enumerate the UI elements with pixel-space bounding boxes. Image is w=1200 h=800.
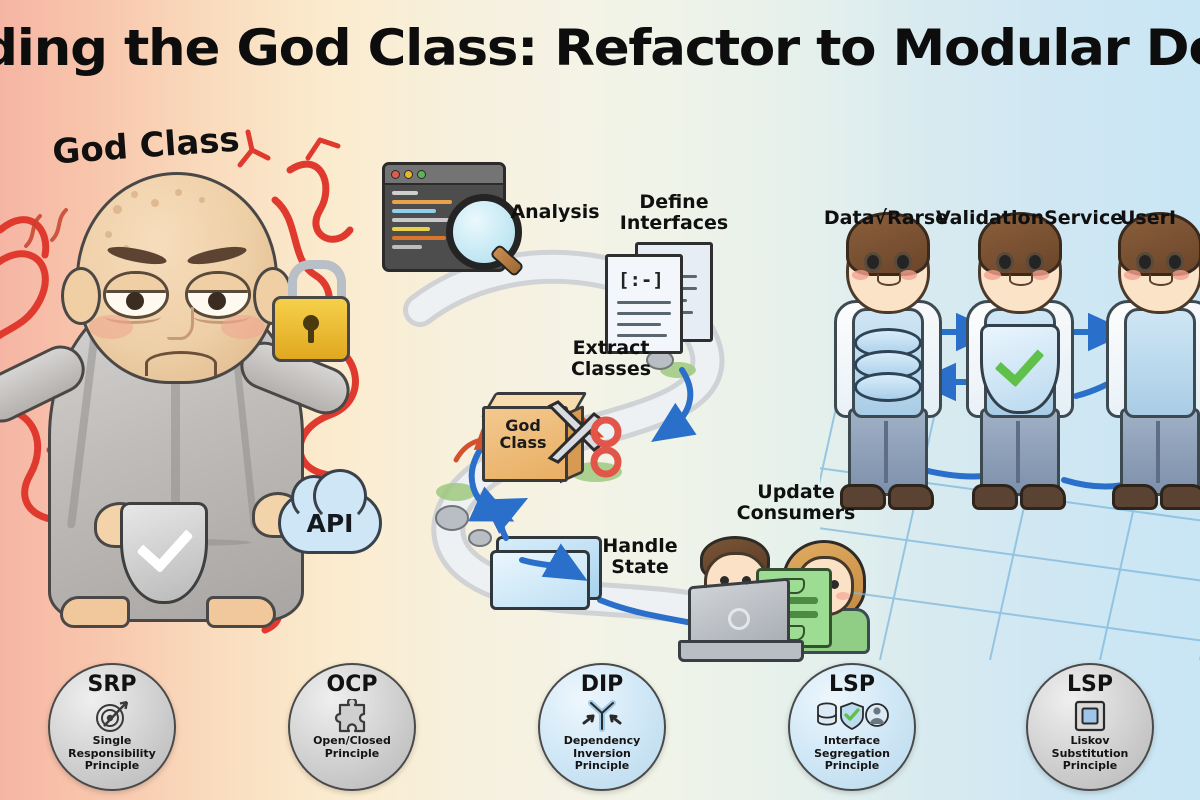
step-label-extract-classes: Extract Classes <box>556 338 666 379</box>
service-figure-validation <box>958 212 1076 512</box>
puzzle-piece-icon <box>334 698 370 734</box>
principle-name: Dependency Inversion Principle <box>564 735 641 773</box>
principle-name: Open/Closed Principle <box>313 735 391 760</box>
service-label-validation: ValidationService <box>936 208 1104 229</box>
api-cloud-icon: API <box>278 492 382 554</box>
service-figure-user <box>1098 212 1200 512</box>
service-label-database: Data√Rarse <box>816 208 956 229</box>
frown-mouth <box>145 351 217 376</box>
database-icon <box>854 328 916 398</box>
principle-name: Liskov Substitution Principle <box>1052 735 1129 773</box>
service-label-user: UserI <box>1120 208 1200 229</box>
page-title-text: Avoiding the God Class: Refactor to Modu… <box>0 19 1200 77</box>
step-label-handle-state: Handle State <box>590 536 690 577</box>
principle-abbr: SRP <box>88 674 137 696</box>
laptop-icon <box>688 582 808 662</box>
principle-abbr: LSP <box>1067 674 1113 696</box>
principle-abbr: OCP <box>327 674 378 696</box>
infographic-canvas: Avoiding the God Class: Refactor to Modu… <box>0 0 1200 800</box>
step-label-define-interfaces: Define Interfaces <box>614 192 734 233</box>
god-class-scene: API God Class <box>0 110 420 650</box>
shield-check-icon <box>980 324 1054 408</box>
state-container-icon <box>490 536 602 610</box>
ear-left <box>61 267 101 325</box>
principle-badge-ocp[interactable]: OCP Open/Closed Principle <box>288 663 416 791</box>
db-shield-user-icon <box>815 698 889 734</box>
service-figure-database <box>826 212 944 512</box>
step-label-analysis: Analysis <box>500 202 610 223</box>
principle-badge-srp[interactable]: SRP Single Responsibility Principle <box>48 663 176 791</box>
shield-check-icon <box>120 502 202 598</box>
step-label-update-consumers: Update Consumers <box>726 482 866 523</box>
scissors-icon <box>542 398 628 484</box>
principle-name: Interface Segregation Principle <box>814 735 890 773</box>
principle-badge-dip[interactable]: DIP Dependency Inversion Principle <box>538 663 666 791</box>
principle-abbr: LSP <box>829 674 875 696</box>
nose <box>167 307 194 340</box>
foot-left <box>60 596 130 628</box>
refactor-flow-scene: Analysis [:-] Define Interfaces Go <box>360 120 880 660</box>
target-icon <box>94 698 130 734</box>
principle-badge-isp[interactable]: LSP Interface Segregation Principle <box>788 663 916 791</box>
modular-services-scene: Data√Rarse ValidationService UserI <box>820 150 1200 660</box>
principle-badge-lsp[interactable]: LSP Liskov Substitution Principle <box>1026 663 1154 791</box>
brow-left <box>106 243 167 267</box>
padlock-icon <box>272 260 344 356</box>
brow-right <box>186 243 247 267</box>
page-title: Avoiding the God Class: Refactor to Modu… <box>0 0 1200 96</box>
nested-square-icon <box>1073 698 1107 734</box>
inversion-arrows-icon <box>582 698 622 734</box>
principle-abbr: DIP <box>581 674 624 696</box>
api-cloud-label: API <box>278 492 382 554</box>
principle-name: Single Responsibility Principle <box>68 735 156 773</box>
foot-right <box>206 596 276 628</box>
god-class-head <box>76 172 278 384</box>
